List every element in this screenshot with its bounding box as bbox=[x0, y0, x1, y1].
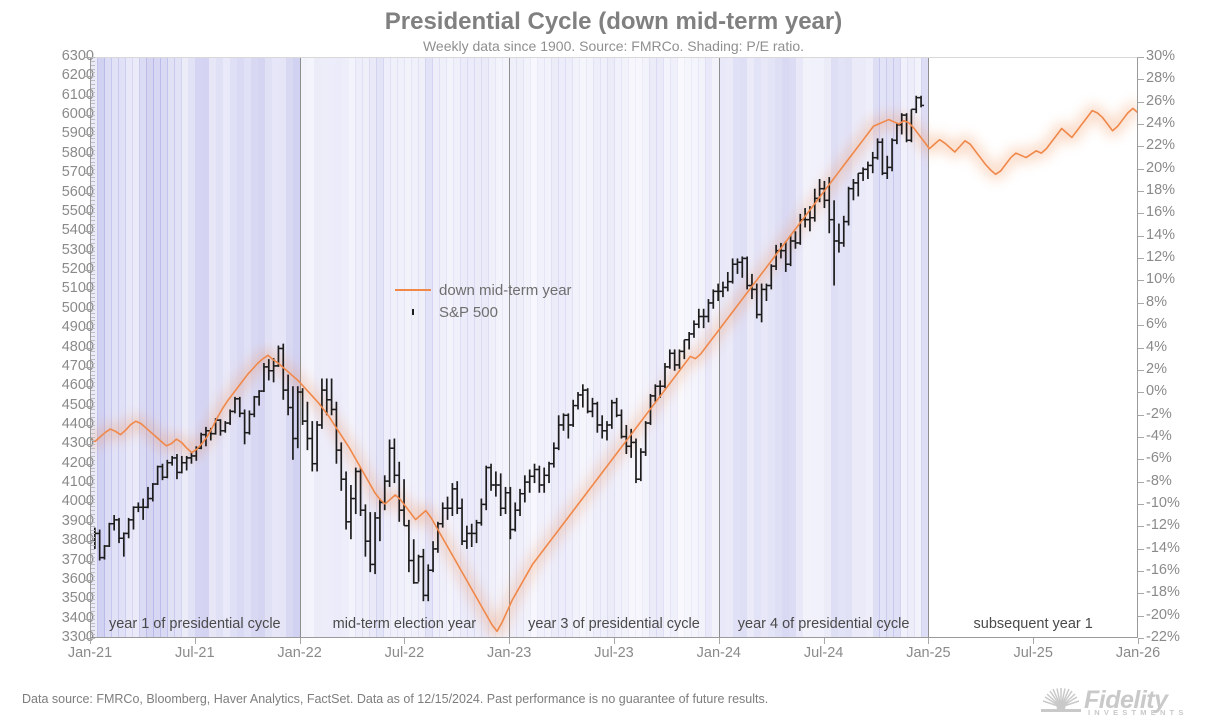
y-axis-minor-tick bbox=[91, 177, 95, 178]
y-axis-minor-tick bbox=[91, 417, 95, 418]
y-axis-minor-tick bbox=[91, 181, 95, 182]
y2-axis-tick-label: -6% bbox=[1146, 451, 1216, 466]
y-axis-minor-tick bbox=[91, 634, 95, 635]
y2-axis-tick-mark bbox=[1138, 280, 1144, 281]
y-axis-tick-mark bbox=[84, 251, 90, 252]
y-axis-minor-tick bbox=[91, 142, 95, 143]
y-axis-minor-tick bbox=[91, 92, 95, 93]
y-axis-minor-tick bbox=[91, 65, 95, 66]
y-axis-minor-tick bbox=[91, 518, 95, 519]
y2-axis-tick-label: 2% bbox=[1146, 362, 1216, 377]
y-axis-minor-tick bbox=[91, 406, 95, 407]
y-axis-tick-mark bbox=[84, 502, 90, 503]
x-axis-tick-mark bbox=[1138, 638, 1139, 644]
y-axis-tick-mark bbox=[84, 367, 90, 368]
y2-axis-tick-mark bbox=[1138, 146, 1144, 147]
y-axis-minor-tick bbox=[91, 638, 95, 639]
y-axis-tick-mark bbox=[84, 619, 90, 620]
x-axis-tick-label: Jul-25 bbox=[988, 646, 1078, 661]
y-axis-minor-tick bbox=[91, 57, 95, 58]
y2-axis-tick-label: -22% bbox=[1146, 630, 1216, 645]
y2-axis-tick-label: -12% bbox=[1146, 518, 1216, 533]
y-axis-minor-tick bbox=[91, 386, 95, 387]
y-axis-minor-tick bbox=[91, 103, 95, 104]
y2-axis-tick-mark bbox=[1138, 526, 1144, 527]
y-axis-minor-tick bbox=[91, 324, 95, 325]
y-axis-minor-tick bbox=[91, 286, 95, 287]
y-axis-tick-mark bbox=[84, 599, 90, 600]
y2-axis-tick-label: -18% bbox=[1146, 585, 1216, 600]
y-axis-minor-tick bbox=[91, 154, 95, 155]
y2-axis-tick-mark bbox=[1138, 57, 1144, 58]
y-axis-minor-tick bbox=[91, 363, 95, 364]
y-axis-minor-tick bbox=[91, 553, 95, 554]
y-axis-minor-tick bbox=[91, 514, 95, 515]
y2-axis-tick-mark bbox=[1138, 79, 1144, 80]
y2-axis-tick-mark bbox=[1138, 459, 1144, 460]
y-axis-minor-tick bbox=[91, 599, 95, 600]
y-axis-minor-tick bbox=[91, 320, 95, 321]
band-label: mid-term election year bbox=[300, 616, 510, 632]
y-axis-minor-tick bbox=[91, 165, 95, 166]
y2-axis-tick-label: 6% bbox=[1146, 317, 1216, 332]
y2-axis-tick-mark bbox=[1138, 593, 1144, 594]
y-axis-minor-tick bbox=[91, 216, 95, 217]
x-axis-tick-label: Jan-23 bbox=[464, 646, 554, 661]
y-axis-minor-tick bbox=[91, 328, 95, 329]
y-axis-minor-tick bbox=[91, 475, 95, 476]
y2-axis-tick-label: 16% bbox=[1146, 205, 1216, 220]
y-axis-minor-tick bbox=[91, 340, 95, 341]
x-axis-tick-mark bbox=[195, 638, 196, 644]
y2-axis-tick-label: -4% bbox=[1146, 429, 1216, 444]
x-axis-tick-label: Jul-24 bbox=[779, 646, 869, 661]
y2-axis-tick-label: 30% bbox=[1146, 49, 1216, 64]
fidelity-logo: Fidelity INVESTMENTS bbox=[1040, 684, 1215, 718]
y-axis-minor-tick bbox=[91, 123, 95, 124]
x-axis-tick-label: Jan-21 bbox=[45, 646, 135, 661]
y-axis-minor-tick bbox=[91, 429, 95, 430]
y-axis-minor-tick bbox=[91, 80, 95, 81]
y-axis-minor-tick bbox=[91, 468, 95, 469]
legend-line-swatch bbox=[395, 289, 431, 291]
y-axis-minor-tick bbox=[91, 440, 95, 441]
y-axis-minor-tick bbox=[91, 258, 95, 259]
y-axis-minor-tick bbox=[91, 382, 95, 383]
y2-axis-tick-label: 20% bbox=[1146, 161, 1216, 176]
y2-axis-tick-mark bbox=[1138, 325, 1144, 326]
x-axis-tick-mark bbox=[614, 638, 615, 644]
y-axis-tick-mark bbox=[84, 561, 90, 562]
y-axis-minor-tick bbox=[91, 146, 95, 147]
y-axis-minor-tick bbox=[91, 344, 95, 345]
y-axis-minor-tick bbox=[91, 413, 95, 414]
y-axis-minor-tick bbox=[91, 317, 95, 318]
y-axis-minor-tick bbox=[91, 134, 95, 135]
y2-axis-tick-label: 18% bbox=[1146, 183, 1216, 198]
y-axis-minor-tick bbox=[91, 282, 95, 283]
sp500-ohlc-bars bbox=[90, 96, 924, 601]
band-label: year 1 of presidential cycle bbox=[90, 616, 300, 632]
y-axis-tick-mark bbox=[84, 134, 90, 135]
y-axis-minor-tick bbox=[91, 394, 95, 395]
y-axis-tick-mark bbox=[84, 348, 90, 349]
y-axis-minor-tick bbox=[91, 437, 95, 438]
y-axis-minor-tick bbox=[91, 348, 95, 349]
y-axis-tick-mark bbox=[84, 464, 90, 465]
y-axis-minor-tick bbox=[91, 483, 95, 484]
y-axis-minor-tick bbox=[91, 452, 95, 453]
y-axis-minor-tick bbox=[91, 421, 95, 422]
y2-axis-tick-label: 28% bbox=[1146, 71, 1216, 86]
y-axis-minor-tick bbox=[91, 630, 95, 631]
x-axis-tick-mark bbox=[928, 638, 929, 644]
y-axis-minor-tick bbox=[91, 239, 95, 240]
y-axis-minor-tick bbox=[91, 193, 95, 194]
y-axis-minor-tick bbox=[91, 425, 95, 426]
y-axis-minor-tick bbox=[91, 510, 95, 511]
y-axis-minor-tick bbox=[91, 115, 95, 116]
y-axis-minor-tick bbox=[91, 262, 95, 263]
chart-plot-area: year 1 of presidential cyclemid-term ele… bbox=[90, 57, 1138, 638]
y-axis-minor-tick bbox=[91, 471, 95, 472]
x-axis-tick-mark bbox=[90, 638, 91, 644]
y-axis-tick-mark bbox=[84, 96, 90, 97]
y-axis-minor-tick bbox=[91, 568, 95, 569]
y-axis-minor-tick bbox=[91, 588, 95, 589]
chart-legend: down mid-term year S&P 500 bbox=[395, 279, 572, 323]
y-axis-tick-mark bbox=[84, 444, 90, 445]
y-axis-tick-mark bbox=[84, 289, 90, 290]
y2-axis-tick-mark bbox=[1138, 102, 1144, 103]
x-axis-tick-mark bbox=[404, 638, 405, 644]
y-axis-minor-tick bbox=[91, 88, 95, 89]
y-axis-tick-mark bbox=[84, 212, 90, 213]
y-axis-tick-mark bbox=[84, 406, 90, 407]
y2-axis-tick-label: 12% bbox=[1146, 250, 1216, 265]
footer-source-text: Data source: FMRCo, Bloomberg, Haver Ana… bbox=[22, 692, 768, 706]
y2-axis-tick-mark bbox=[1138, 504, 1144, 505]
y2-axis-tick-label: 14% bbox=[1146, 228, 1216, 243]
y-axis-minor-tick bbox=[91, 460, 95, 461]
y2-axis-tick-mark bbox=[1138, 258, 1144, 259]
y-axis-tick-mark bbox=[84, 483, 90, 484]
y2-axis-tick-label: 4% bbox=[1146, 340, 1216, 355]
band-label: year 3 of presidential cycle bbox=[509, 616, 719, 632]
y-axis-tick-mark bbox=[84, 231, 90, 232]
y-axis-tick-mark bbox=[84, 154, 90, 155]
y-axis-minor-tick bbox=[91, 619, 95, 620]
x-axis-tick-mark bbox=[1033, 638, 1034, 644]
x-axis-tick-label: Jul-22 bbox=[359, 646, 449, 661]
y-axis-minor-tick bbox=[91, 293, 95, 294]
y-axis-minor-tick bbox=[91, 185, 95, 186]
y-axis-minor-tick bbox=[91, 243, 95, 244]
y-axis-tick-mark bbox=[84, 193, 90, 194]
y-axis-minor-tick bbox=[91, 204, 95, 205]
y-axis-minor-tick bbox=[91, 169, 95, 170]
y-axis-minor-tick bbox=[91, 107, 95, 108]
y-axis-minor-tick bbox=[91, 615, 95, 616]
y-axis-minor-tick bbox=[91, 189, 95, 190]
y-axis-minor-tick bbox=[91, 336, 95, 337]
y-axis-minor-tick bbox=[91, 545, 95, 546]
y-axis-minor-tick bbox=[91, 278, 95, 279]
y-axis-minor-tick bbox=[91, 247, 95, 248]
y2-axis-tick-label: -20% bbox=[1146, 608, 1216, 623]
band-label: subsequent year 1 bbox=[928, 616, 1138, 632]
y-axis-minor-tick bbox=[91, 564, 95, 565]
y-axis-minor-tick bbox=[91, 212, 95, 213]
y2-axis-tick-mark bbox=[1138, 213, 1144, 214]
y2-axis-tick-mark bbox=[1138, 191, 1144, 192]
y-axis-minor-tick bbox=[91, 533, 95, 534]
legend-label: S&P 500 bbox=[439, 304, 498, 321]
y-axis-minor-tick bbox=[91, 464, 95, 465]
y2-axis-tick-mark bbox=[1138, 348, 1144, 349]
y-axis-minor-tick bbox=[91, 69, 95, 70]
y-axis-minor-tick bbox=[91, 289, 95, 290]
y-axis-minor-tick bbox=[91, 297, 95, 298]
x-axis-tick-label: Jan-22 bbox=[255, 646, 345, 661]
y-axis-minor-tick bbox=[91, 495, 95, 496]
fidelity-investments-text: INVESTMENTS bbox=[1088, 708, 1188, 717]
y-axis-minor-tick bbox=[91, 61, 95, 62]
x-axis-tick-mark bbox=[824, 638, 825, 644]
y-axis-minor-tick bbox=[91, 220, 95, 221]
y2-axis-tick-label: -16% bbox=[1146, 563, 1216, 578]
band-label: year 4 of presidential cycle bbox=[719, 616, 929, 632]
y-axis-minor-tick bbox=[91, 119, 95, 120]
y2-axis-tick-mark bbox=[1138, 236, 1144, 237]
chart-title: Presidential Cycle (down mid-term year) bbox=[0, 8, 1227, 36]
x-axis-tick-label: Jul-23 bbox=[569, 646, 659, 661]
y-axis-minor-tick bbox=[91, 444, 95, 445]
y-axis-minor-tick bbox=[91, 541, 95, 542]
y-axis-tick-mark bbox=[84, 76, 90, 77]
y-axis-minor-tick bbox=[91, 301, 95, 302]
y-axis-minor-tick bbox=[91, 549, 95, 550]
y-axis-tick-mark bbox=[84, 328, 90, 329]
y-axis-minor-tick bbox=[91, 138, 95, 139]
y-axis-minor-tick bbox=[91, 351, 95, 352]
y-axis-minor-tick bbox=[91, 580, 95, 581]
y-axis-minor-tick bbox=[91, 375, 95, 376]
y-axis-minor-tick bbox=[91, 409, 95, 410]
y-axis-minor-tick bbox=[91, 537, 95, 538]
y-axis-minor-tick bbox=[91, 499, 95, 500]
x-axis-tick-mark bbox=[509, 638, 510, 644]
y-axis-tick-mark bbox=[84, 173, 90, 174]
series-layer bbox=[90, 57, 1138, 638]
y-axis-minor-tick bbox=[91, 251, 95, 252]
y-axis-minor-tick bbox=[91, 196, 95, 197]
y2-axis-tick-label: 26% bbox=[1146, 94, 1216, 109]
y-axis-minor-tick bbox=[91, 378, 95, 379]
y-axis-minor-tick bbox=[91, 332, 95, 333]
y-axis-minor-tick bbox=[91, 274, 95, 275]
y2-axis-tick-label: -2% bbox=[1146, 407, 1216, 422]
y-axis-minor-tick bbox=[91, 235, 95, 236]
y-axis-minor-tick bbox=[91, 433, 95, 434]
y-axis-minor-tick bbox=[91, 150, 95, 151]
y-axis-minor-tick bbox=[91, 355, 95, 356]
y-axis-minor-tick bbox=[91, 100, 95, 101]
y-axis-minor-tick bbox=[91, 595, 95, 596]
y2-axis-tick-label: 22% bbox=[1146, 138, 1216, 153]
x-axis-tick-label: Jul-21 bbox=[150, 646, 240, 661]
y-axis-minor-tick bbox=[91, 309, 95, 310]
down-midterm-year-glow bbox=[90, 108, 1138, 631]
y-axis-minor-tick bbox=[91, 561, 95, 562]
y-axis-minor-tick bbox=[91, 305, 95, 306]
legend-item-sp500: S&P 500 bbox=[395, 301, 572, 323]
y-axis-minor-tick bbox=[91, 208, 95, 209]
y2-axis-tick-mark bbox=[1138, 482, 1144, 483]
y-axis-tick-mark bbox=[84, 57, 90, 58]
y-axis-minor-tick bbox=[91, 200, 95, 201]
y2-axis-tick-mark bbox=[1138, 370, 1144, 371]
y2-axis-tick-mark bbox=[1138, 616, 1144, 617]
y-axis-tick-mark bbox=[84, 386, 90, 387]
y2-axis-tick-mark bbox=[1138, 303, 1144, 304]
y-axis-tick-mark bbox=[84, 541, 90, 542]
y-axis-minor-tick bbox=[91, 173, 95, 174]
y2-axis-tick-mark bbox=[1138, 571, 1144, 572]
y2-axis-tick-mark bbox=[1138, 415, 1144, 416]
y-axis-minor-tick bbox=[91, 502, 95, 503]
y2-axis-tick-label: 24% bbox=[1146, 116, 1216, 131]
y-axis-minor-tick bbox=[91, 526, 95, 527]
y-axis-minor-tick bbox=[91, 522, 95, 523]
y-axis-minor-tick bbox=[91, 158, 95, 159]
y-axis-minor-tick bbox=[91, 270, 95, 271]
y-axis-minor-tick bbox=[91, 111, 95, 112]
y-axis-minor-tick bbox=[91, 448, 95, 449]
y-axis-minor-tick bbox=[91, 611, 95, 612]
y-axis-tick-mark bbox=[84, 580, 90, 581]
y-axis-minor-tick bbox=[91, 313, 95, 314]
y-axis-minor-tick bbox=[91, 72, 95, 73]
y-axis-minor-tick bbox=[91, 162, 95, 163]
y-axis-minor-tick bbox=[91, 224, 95, 225]
x-axis-tick-label: Jan-24 bbox=[674, 646, 764, 661]
x-axis-tick-mark bbox=[300, 638, 301, 644]
y-axis-minor-tick bbox=[91, 576, 95, 577]
y-axis-minor-tick bbox=[91, 390, 95, 391]
y-axis-minor-tick bbox=[91, 487, 95, 488]
y-axis-minor-tick bbox=[91, 603, 95, 604]
y-axis-minor-tick bbox=[91, 96, 95, 97]
fidelity-starburst-icon bbox=[1040, 685, 1082, 717]
y-axis-minor-tick bbox=[91, 572, 95, 573]
y-axis-minor-tick bbox=[91, 456, 95, 457]
y-axis-minor-tick bbox=[91, 584, 95, 585]
y-axis-minor-tick bbox=[91, 626, 95, 627]
y-axis-minor-tick bbox=[91, 359, 95, 360]
y-axis-minor-tick bbox=[91, 266, 95, 267]
y-axis-tick-mark bbox=[84, 115, 90, 116]
y-axis-minor-tick bbox=[91, 623, 95, 624]
y2-axis-tick-mark bbox=[1138, 437, 1144, 438]
y-axis-minor-tick bbox=[91, 607, 95, 608]
y-axis-minor-tick bbox=[91, 84, 95, 85]
y-axis-minor-tick bbox=[91, 127, 95, 128]
y-axis-minor-tick bbox=[91, 402, 95, 403]
y2-axis-tick-mark bbox=[1138, 124, 1144, 125]
y-axis-tick-mark bbox=[84, 270, 90, 271]
y-axis-minor-tick bbox=[91, 557, 95, 558]
y-axis-minor-tick bbox=[91, 227, 95, 228]
y-axis-minor-tick bbox=[91, 530, 95, 531]
y2-axis-tick-label: 10% bbox=[1146, 272, 1216, 287]
y-axis-minor-tick bbox=[91, 398, 95, 399]
y2-axis-tick-label: -14% bbox=[1146, 541, 1216, 556]
y-axis-tick-mark bbox=[84, 309, 90, 310]
y-axis-tick-mark bbox=[84, 425, 90, 426]
y-axis-minor-tick bbox=[91, 592, 95, 593]
x-axis-tick-label: Jan-26 bbox=[1093, 646, 1183, 661]
y-axis-minor-tick bbox=[91, 367, 95, 368]
y-axis-minor-tick bbox=[91, 231, 95, 232]
y-axis-tick-mark bbox=[84, 522, 90, 523]
y2-axis-tick-mark bbox=[1138, 169, 1144, 170]
y2-axis-tick-label: -8% bbox=[1146, 474, 1216, 489]
y2-axis-tick-label: 8% bbox=[1146, 295, 1216, 310]
legend-bar-swatch bbox=[395, 309, 431, 315]
y2-axis-tick-mark bbox=[1138, 392, 1144, 393]
y-axis-minor-tick bbox=[91, 479, 95, 480]
y-axis-minor-tick bbox=[91, 131, 95, 132]
legend-item-down-midterm-year: down mid-term year bbox=[395, 279, 572, 301]
x-axis-tick-label: Jan-25 bbox=[883, 646, 973, 661]
y-axis-minor-tick bbox=[91, 491, 95, 492]
y-axis-minor-tick bbox=[91, 76, 95, 77]
chart-subtitle: Weekly data since 1900. Source: FMRCo. S… bbox=[0, 38, 1227, 54]
y-axis-minor-tick bbox=[91, 506, 95, 507]
y2-axis-tick-label: -10% bbox=[1146, 496, 1216, 511]
x-axis-tick-mark bbox=[719, 638, 720, 644]
y2-axis-tick-label: 0% bbox=[1146, 384, 1216, 399]
y2-axis-tick-mark bbox=[1138, 549, 1144, 550]
y-axis-minor-tick bbox=[91, 255, 95, 256]
legend-label: down mid-term year bbox=[439, 282, 572, 299]
y-axis-minor-tick bbox=[91, 371, 95, 372]
